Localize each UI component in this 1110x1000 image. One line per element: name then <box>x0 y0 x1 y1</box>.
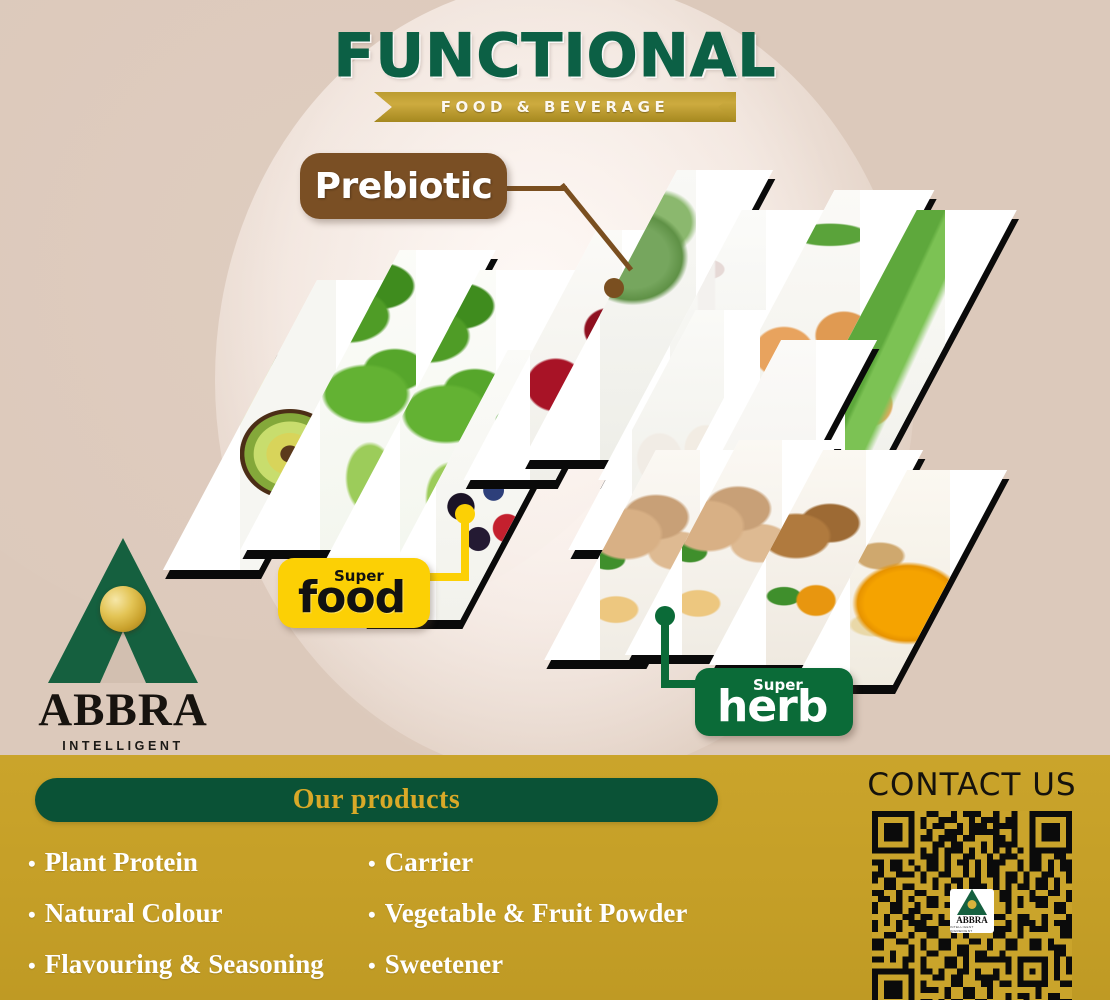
ribbon-inner: FOOD & BEVERAGE <box>374 92 736 122</box>
contact-title: CONTACT US <box>848 767 1096 803</box>
subtitle-text: FOOD & BEVERAGE <box>441 98 669 116</box>
qr-logo-sphere-icon <box>968 900 977 909</box>
abbra-triangle-icon <box>48 538 198 683</box>
list-item-label: Flavouring & Seasoning <box>45 949 324 980</box>
list-item[interactable]: • Carrier <box>368 847 768 878</box>
list-item-label: Carrier <box>385 847 473 878</box>
callout-super-food[interactable]: Super food <box>278 558 430 628</box>
list-item-label: Sweetener <box>385 949 503 980</box>
page-title: FUNCTIONAL <box>0 26 1110 86</box>
callout-super-food-stack: Super food <box>278 558 430 628</box>
bullet-icon: • <box>368 904 376 926</box>
list-item-label: Vegetable & Fruit Powder <box>385 898 688 929</box>
bullet-icon: • <box>368 853 376 875</box>
callout-super-herb[interactable]: Super herb <box>695 668 853 736</box>
list-item[interactable]: • Vegetable & Fruit Powder <box>368 898 768 929</box>
list-item[interactable]: • Natural Colour <box>28 898 368 929</box>
connector-food-v <box>461 514 469 580</box>
callout-super-herb-label: herb <box>717 685 827 729</box>
header: FUNCTIONAL FOOD & BEVERAGE <box>0 26 1110 122</box>
qr-logo-triangle-icon <box>957 889 987 915</box>
brand-name: ABBRA <box>18 687 228 734</box>
list-item[interactable]: • Sweetener <box>368 949 768 980</box>
list-item-label: Natural Colour <box>45 898 223 929</box>
bullet-icon: • <box>368 955 376 977</box>
list-item[interactable]: • Flavouring & Seasoning <box>28 949 368 980</box>
callout-prebiotic-label: Prebiotic <box>315 166 493 207</box>
callout-prebiotic[interactable]: Prebiotic <box>300 153 507 219</box>
gold-sphere-icon <box>100 586 146 632</box>
products-column-2: • Carrier • Vegetable & Fruit Powder • S… <box>368 847 768 1000</box>
products-column-1: • Plant Protein • Natural Colour • Flavo… <box>28 847 368 1000</box>
callout-super-herb-stack: Super herb <box>695 668 853 736</box>
bullet-icon: • <box>28 904 36 926</box>
qr-logo-tagline: INTELLIGENT INGREDIENT <box>950 925 994 933</box>
footer-band: Our products • Plant Protein • Natural C… <box>0 755 1110 1000</box>
qr-center-logo: ABBRA INTELLIGENT INGREDIENT <box>950 889 994 933</box>
list-item[interactable]: • Plant Protein <box>28 847 368 878</box>
qr-code[interactable]: ABBRA INTELLIGENT INGREDIENT <box>872 811 1072 1000</box>
bullet-icon: • <box>28 853 36 875</box>
qr-logo-name: ABBRA <box>956 916 988 925</box>
bullet-icon: • <box>28 955 36 977</box>
brand-logo: ABBRA INTELLIGENT INGREDIENT <box>18 538 228 753</box>
connector-prebiotic-dot <box>604 278 624 298</box>
contact-section: CONTACT US <box>848 767 1096 1000</box>
subtitle-ribbon: FOOD & BEVERAGE <box>374 92 736 122</box>
products-heading-bar: Our products <box>35 778 718 822</box>
callout-super-food-label: food <box>298 576 405 620</box>
poster-canvas: FUNCTIONAL FOOD & BEVERAGE <box>0 0 1110 1000</box>
connector-herb-v <box>661 616 669 686</box>
connector-prebiotic-h <box>505 186 567 191</box>
list-item-label: Plant Protein <box>45 847 198 878</box>
products-heading: Our products <box>293 784 461 816</box>
